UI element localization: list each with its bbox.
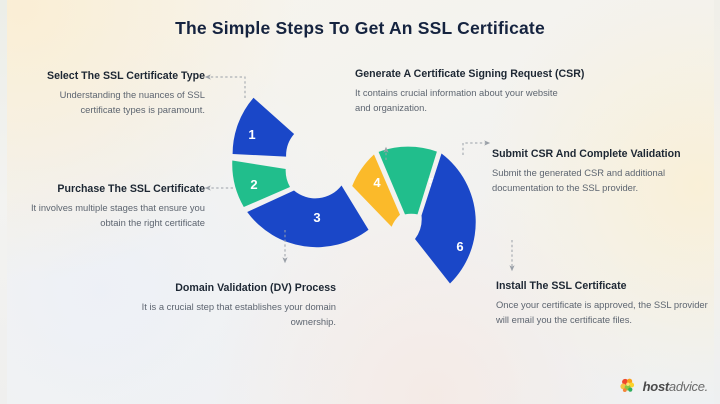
hostadvice-wordmark: hostadvice.	[643, 379, 708, 394]
step-text-1: Select The SSL Certificate Type Understa…	[30, 70, 205, 117]
hostadvice-logo[interactable]: hostadvice.	[618, 376, 708, 396]
step-number-3: 3	[313, 210, 320, 225]
step-body-2: It involves multiple stages that ensure …	[30, 201, 205, 230]
step-heading-1: Select The SSL Certificate Type	[30, 70, 205, 83]
step-number-4: 4	[373, 175, 381, 190]
step-text-4: Generate A Certificate Signing Request (…	[355, 68, 560, 115]
step-text-2: Purchase The SSL Certificate It involves…	[30, 183, 205, 230]
step-body-3: It is a crucial step that establishes yo…	[138, 300, 336, 329]
infographic-canvas: The Simple Steps To Get An SSL Certifica…	[0, 0, 720, 404]
logo-light-text: advice.	[669, 379, 708, 394]
step-body-5: Submit the generated CSR and additional …	[492, 166, 704, 195]
step-heading-2: Purchase The SSL Certificate	[30, 183, 205, 196]
step-body-6: Once your certificate is approved, the S…	[496, 298, 708, 327]
step-text-6: Install The SSL Certificate Once your ce…	[496, 280, 708, 327]
connector-step-5	[463, 143, 487, 155]
step-number-6: 6	[456, 239, 463, 254]
hostadvice-mark-icon	[618, 376, 638, 396]
connector-step-1	[208, 77, 245, 98]
step-heading-5: Submit CSR And Complete Validation	[492, 148, 704, 161]
step-heading-6: Install The SSL Certificate	[496, 280, 708, 293]
step-text-5: Submit CSR And Complete Validation Submi…	[492, 148, 704, 195]
step-heading-4: Generate A Certificate Signing Request (…	[355, 68, 560, 81]
logo-bold-text: host	[643, 379, 669, 394]
step-number-2: 2	[250, 177, 257, 192]
step-body-4: It contains crucial information about yo…	[355, 86, 560, 115]
step-text-3: Domain Validation (DV) Process It is a c…	[138, 282, 336, 329]
step-number-1: 1	[248, 127, 255, 142]
step-heading-3: Domain Validation (DV) Process	[138, 282, 336, 295]
step-segment-1[interactable]: 1	[233, 98, 295, 157]
step-body-1: Understanding the nuances of SSL certifi…	[30, 88, 205, 117]
